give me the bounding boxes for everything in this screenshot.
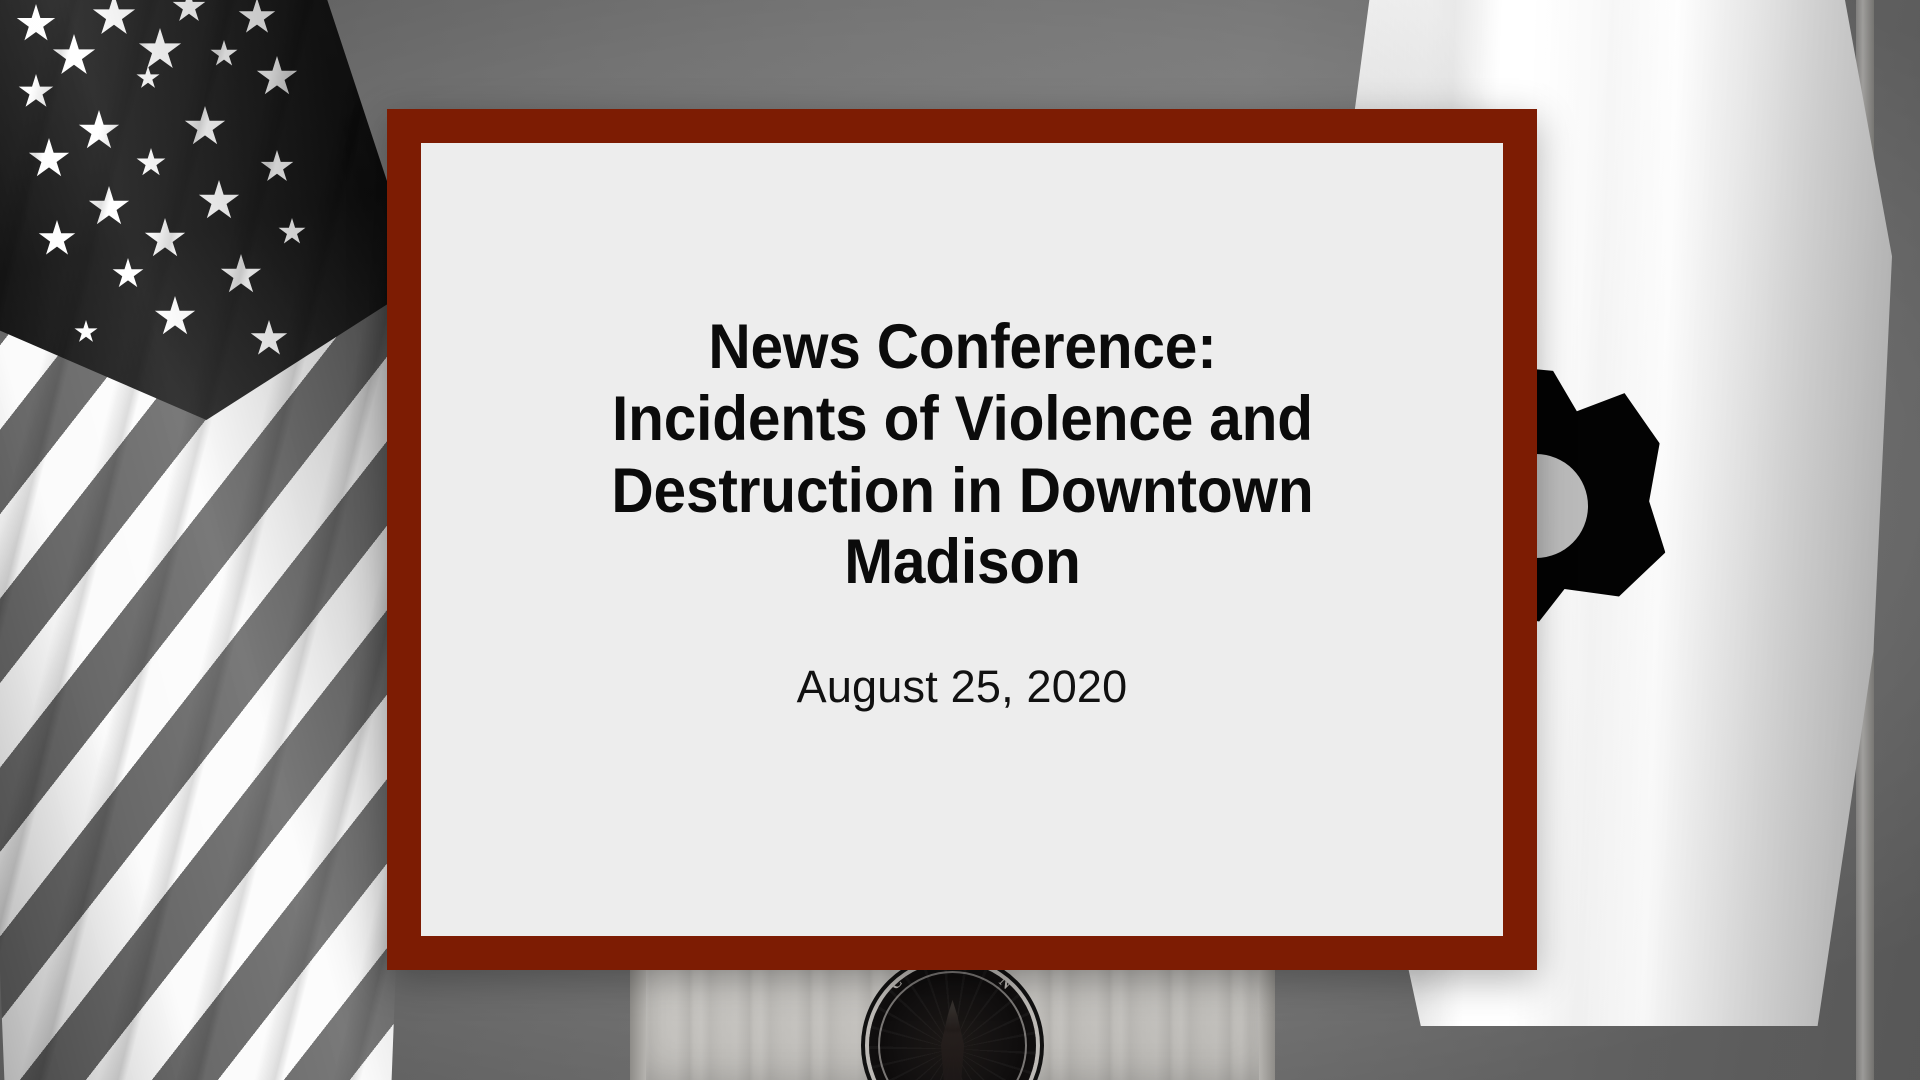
podium-right-edge	[1259, 955, 1275, 1080]
title-line-2: Incidents of Violence and	[611, 384, 1313, 456]
page-title: News Conference: Incidents of Violence a…	[611, 312, 1313, 599]
title-card-frame: News Conference: Incidents of Violence a…	[387, 109, 1537, 970]
podium-left-edge	[630, 955, 646, 1080]
seal-letter-right: N	[995, 974, 1016, 995]
united-states-flag	[0, 0, 408, 1080]
seal-lettering: C N	[869, 962, 1036, 1080]
slide-stage: C N	[0, 0, 1920, 1080]
title-line-4: Madison	[611, 527, 1313, 599]
title-card-panel: News Conference: Incidents of Violence a…	[421, 143, 1503, 936]
city-of-madison-seal: C N	[869, 962, 1036, 1080]
seal-letter-left: C	[887, 973, 908, 994]
flag-shading	[0, 0, 408, 1080]
slide-date: August 25, 2020	[797, 661, 1128, 713]
title-line-3: Destruction in Downtown	[611, 456, 1313, 528]
title-line-1: News Conference:	[611, 312, 1313, 384]
